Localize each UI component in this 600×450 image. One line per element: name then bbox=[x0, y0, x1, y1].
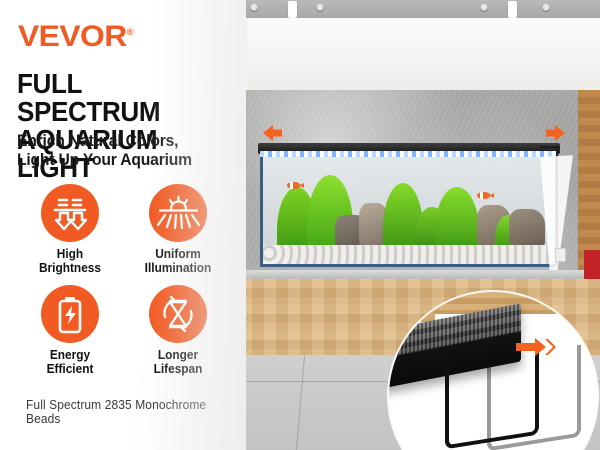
red-container bbox=[584, 250, 600, 280]
sun-rays-icon bbox=[149, 184, 207, 242]
ceiling-spotlight bbox=[542, 3, 550, 11]
ceiling-spotlight bbox=[480, 3, 488, 11]
product-photo bbox=[240, 0, 600, 450]
hourglass-recycle-icon bbox=[149, 285, 207, 343]
countertop bbox=[240, 270, 600, 279]
feature-energy-efficient: Energy Efficient bbox=[16, 285, 124, 376]
ceiling-spotlight bbox=[288, 1, 297, 18]
feature-label-line2: Efficient bbox=[19, 362, 122, 376]
wood-panel-right bbox=[578, 90, 600, 270]
feature-grid: High Brightness bbox=[16, 184, 236, 386]
ceiling-spotlight bbox=[508, 1, 517, 18]
info-panel: VEVOR® FULL SPECTRUM AQUARIUM LIGHT Enri… bbox=[0, 0, 246, 450]
feature-row: Energy Efficient bbox=[16, 285, 236, 386]
headline-line1: FULL SPECTRUM bbox=[17, 70, 226, 126]
feature-label-line1: High bbox=[19, 247, 122, 261]
feature-label-line1: Longer bbox=[127, 348, 230, 362]
upper-cabinets bbox=[240, 18, 600, 90]
product-caption: Full Spectrum 2835 Monochrome Beads bbox=[26, 398, 237, 426]
led-beads bbox=[260, 151, 558, 157]
mounting-bracket bbox=[445, 343, 539, 450]
feature-label-line2: Brightness bbox=[19, 261, 122, 275]
feature-label: Energy Efficient bbox=[19, 348, 122, 376]
feature-high-brightness: High Brightness bbox=[16, 184, 124, 275]
product-banner: VEVOR® FULL SPECTRUM AQUARIUM LIGHT Enri… bbox=[0, 0, 600, 450]
extend-arrow-left-icon bbox=[262, 124, 296, 142]
feature-label-line2: Illumination bbox=[127, 261, 230, 275]
tank-gravel bbox=[263, 245, 555, 264]
vevor-logo: VEVOR® bbox=[18, 20, 133, 54]
ceiling-spotlight bbox=[316, 3, 324, 11]
inset-background-wood bbox=[389, 292, 435, 322]
page-subtitle: Enrich Natural Colors, Light Up Your Aqu… bbox=[17, 132, 245, 170]
fish bbox=[477, 192, 490, 199]
registered-mark: ® bbox=[127, 27, 134, 37]
subheadline-line1: Enrich Natural Colors, bbox=[17, 132, 245, 151]
logo-text: VEVOR bbox=[18, 20, 127, 53]
wall-outlet bbox=[555, 248, 566, 262]
feature-label-line2: Lifespan bbox=[127, 362, 230, 376]
aquarium-tank bbox=[260, 152, 558, 267]
brightness-arrows-icon bbox=[41, 184, 99, 242]
subheadline-line2: Light Up Your Aquarium bbox=[17, 151, 245, 170]
feature-label-line1: Energy bbox=[19, 348, 122, 362]
feature-row: High Brightness bbox=[16, 184, 236, 285]
extend-arrow-right-icon bbox=[532, 124, 566, 142]
extend-arrow-inset-icon bbox=[515, 336, 559, 358]
feature-label: Uniform Illumination bbox=[127, 247, 230, 275]
fish bbox=[287, 182, 300, 189]
ceiling-spotlight bbox=[250, 3, 258, 11]
tank-water bbox=[263, 152, 555, 264]
battery-bolt-icon bbox=[41, 285, 99, 343]
feature-label: Longer Lifespan bbox=[127, 348, 230, 376]
feature-longer-lifespan: Longer Lifespan bbox=[124, 285, 232, 376]
feature-uniform-illumination: Uniform Illumination bbox=[124, 184, 232, 275]
feature-label: High Brightness bbox=[19, 247, 122, 275]
feature-label-line1: Uniform bbox=[127, 247, 230, 261]
